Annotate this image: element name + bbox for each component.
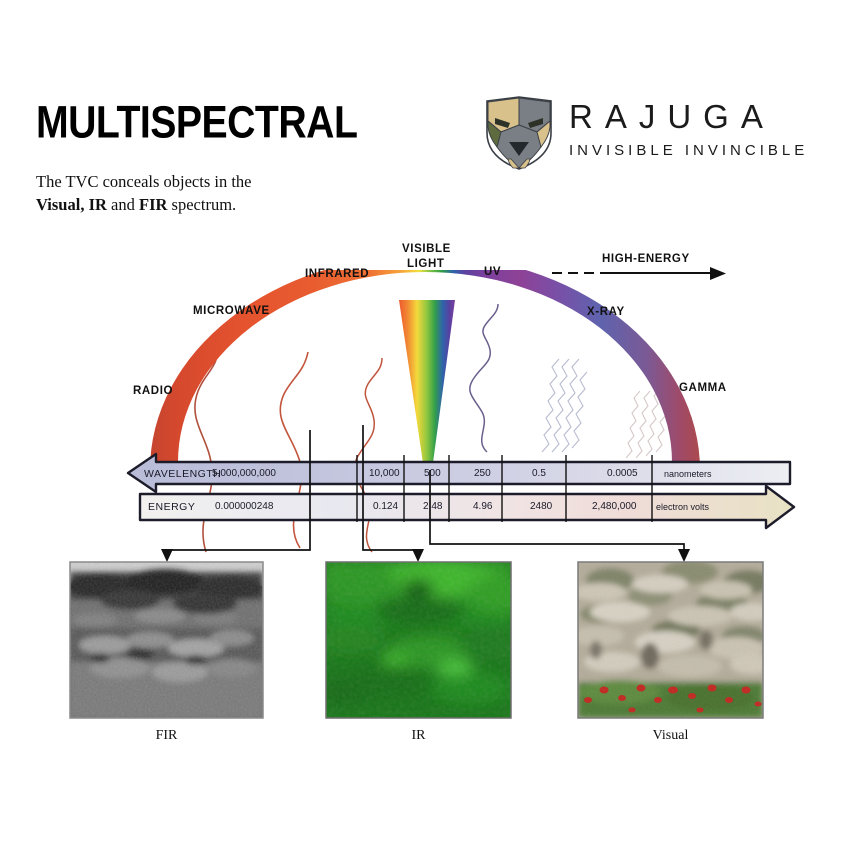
band-label-radio: RADIO (133, 385, 173, 397)
visible-light-wedge (399, 300, 455, 470)
photo-fir (66, 562, 264, 718)
energy-tick-2: 2.48 (423, 501, 442, 512)
band-label-infrared: INFRARED (305, 268, 369, 280)
energy-label: ENERGY (148, 501, 195, 513)
page-title: MULTISPECTRAL (36, 97, 357, 148)
multispectral-slide: MULTISPECTRAL The TVC conceals objects i… (0, 0, 843, 843)
energy-tick-0: 0.000000248 (215, 501, 273, 512)
energy-tick-3: 4.96 (473, 501, 492, 512)
subtitle-bold-fir: FIR (139, 195, 167, 214)
band-label-light: LIGHT (407, 258, 445, 270)
wavelength-tick-1: 10,000 (369, 468, 400, 479)
wavelength-tick-0: 5,000,000,000 (212, 468, 276, 479)
band-label-gamma: GAMMA (679, 382, 727, 394)
subtitle-bold-visual-ir: Visual, IR (36, 195, 107, 214)
wavelength-tick-4: 0.5 (532, 468, 546, 479)
logo-brand-name: RAJUGA (569, 98, 824, 136)
high-energy-label: HIGH-ENERGY (602, 253, 690, 265)
caption-fir: FIR (70, 728, 263, 744)
photo-visual (572, 560, 774, 718)
energy-tick-1: 0.124 (373, 501, 398, 512)
spectrum-arc (140, 270, 715, 480)
band-label-visible: VISIBLE (402, 243, 451, 255)
logo-tagline: INVISIBLE INVINCIBLE (569, 142, 824, 159)
band-label-uv: UV (484, 266, 501, 278)
subtitle-line-1: The TVC conceals objects in the (36, 172, 252, 191)
band-label-xray: X-RAY (587, 306, 625, 318)
wavelength-label: WAVELENGTH (144, 468, 221, 480)
brand-logo: RAJUGA INVISIBLE INVINCIBLE (483, 95, 823, 173)
energy-tick-4: 2480 (530, 501, 552, 512)
high-energy-arrow (552, 267, 726, 280)
page-subtitle: The TVC conceals objects in the Visual, … (36, 170, 252, 216)
wavelength-tick-2: 500 (424, 468, 441, 479)
logo-wordmark: RAJUGA INVISIBLE INVINCIBLE (569, 98, 824, 159)
subtitle-and: and (107, 195, 139, 214)
photo-ir (314, 558, 535, 718)
energy-unit: electron volts (656, 502, 709, 512)
connector-lines (161, 425, 690, 562)
wavelength-unit: nanometers (664, 469, 712, 479)
wavelength-tick-5: 0.0005 (607, 468, 638, 479)
band-label-microwave: MICROWAVE (193, 305, 270, 317)
rajuga-bear-shield-icon (483, 95, 555, 171)
subtitle-spectrum: spectrum. (167, 195, 236, 214)
wave-squiggles (195, 304, 668, 552)
caption-ir: IR (326, 728, 511, 744)
caption-visual: Visual (578, 728, 763, 744)
wavelength-tick-3: 250 (474, 468, 491, 479)
energy-tick-5: 2,480,000 (592, 501, 637, 512)
